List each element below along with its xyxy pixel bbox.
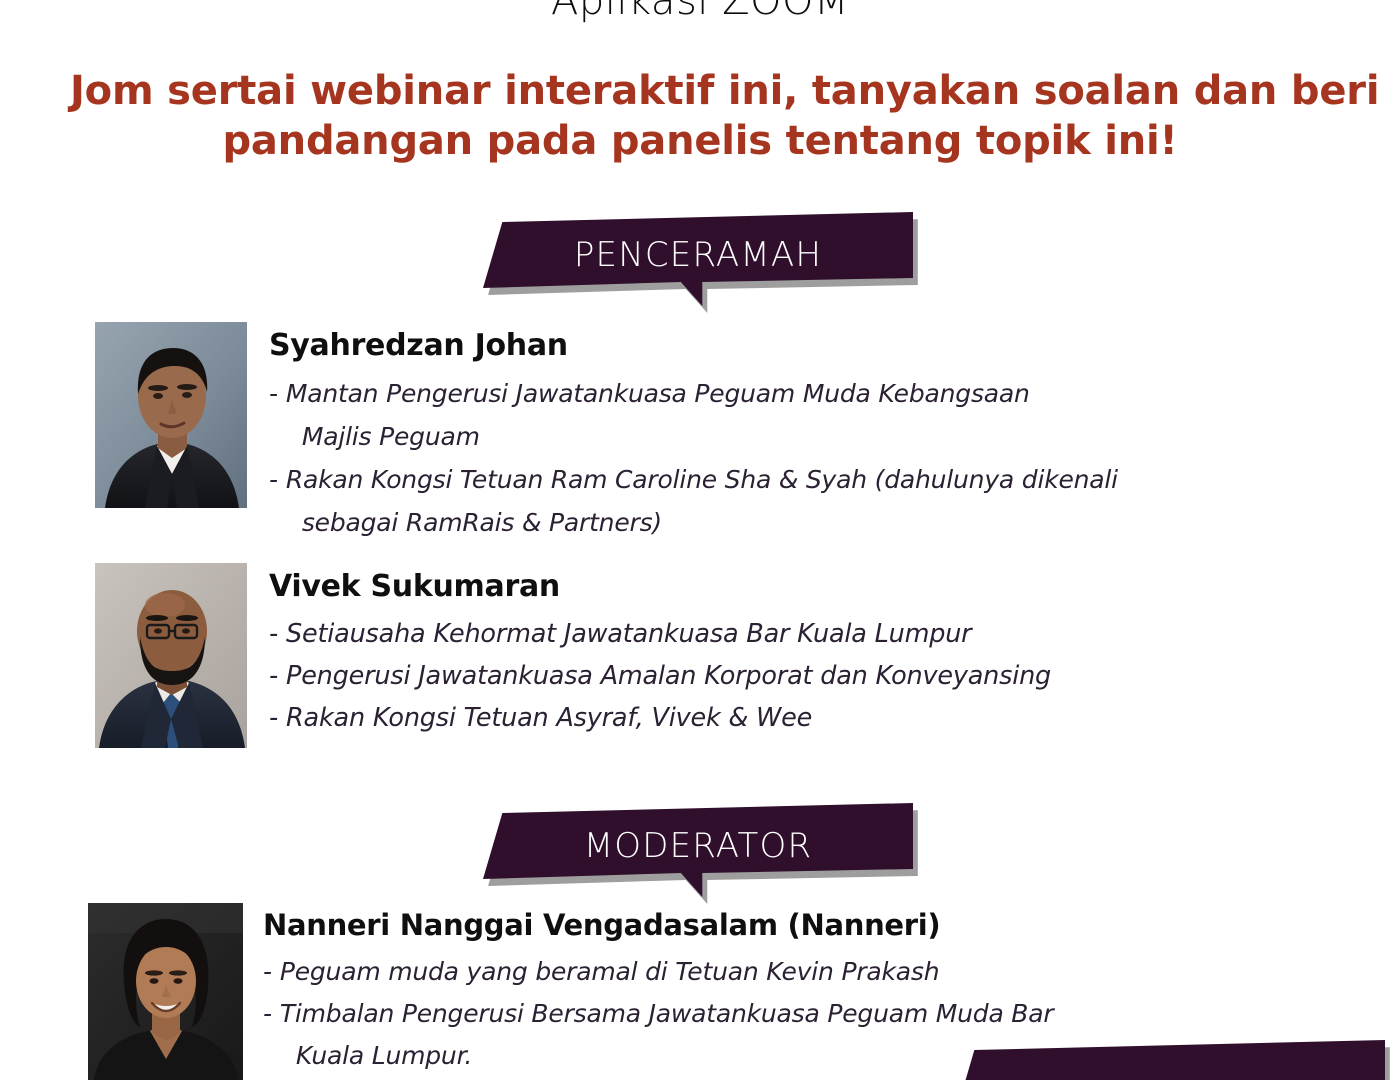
bullet-item: - Peguam muda yang beramal di Tetuan Kev… <box>263 951 1053 993</box>
avatar <box>88 903 243 1080</box>
section-banner-moderator: MODERATOR <box>483 803 913 903</box>
bullet-dash: - <box>269 697 278 739</box>
bullet-dash: - <box>269 613 278 655</box>
moderator-details: Nanneri Nanggai Vengadasalam (Nanneri) -… <box>263 903 1053 1077</box>
speaker-name: Vivek Sukumaran <box>269 569 1051 605</box>
bullet-item: - Setiausaha Kehormat Jawatankuasa Bar K… <box>269 613 1051 655</box>
bullet-dash: - <box>269 458 278 544</box>
bullet-item: - Pengerusi Jawatankuasa Amalan Korporat… <box>269 655 1051 697</box>
bullet-dash: - <box>263 951 272 993</box>
moderator-name: Nanneri Nanggai Vengadasalam (Nanneri) <box>263 907 1053 943</box>
portrait-nanneri-nanggai-vengadasalam-icon <box>88 903 243 1080</box>
bullet-line-2: Majlis Peguam <box>302 415 1118 458</box>
bullet-line-2: Kuala Lumpur. <box>296 1035 1054 1077</box>
bullet-line-1: Rakan Kongsi Tetuan Ram Caroline Sha & S… <box>286 465 1118 494</box>
avatar <box>95 322 247 508</box>
portrait-syahredzan-johan-icon <box>95 322 247 508</box>
page-title: Aplikasi ZOOM <box>0 0 1400 24</box>
headline-line-1: Jom sertai webinar interaktif ini, tanya… <box>70 66 1330 116</box>
headline: Jom sertai webinar interaktif ini, tanya… <box>70 66 1330 166</box>
bullet-text: Pengerusi Jawatankuasa Amalan Korporat d… <box>286 655 1051 697</box>
bullet-dash: - <box>263 993 272 1077</box>
bullet-line-2: sebagai RamRais & Partners) <box>302 501 1118 544</box>
bullet-line-1: Timbalan Pengerusi Bersama Jawatankuasa … <box>280 999 1054 1028</box>
headline-line-2: pandangan pada panelis tentang topik ini… <box>70 116 1330 166</box>
bullet-text: Rakan Kongsi Tetuan Asyraf, Vivek & Wee <box>286 697 1051 739</box>
bullet-item: - Rakan Kongsi Tetuan Asyraf, Vivek & We… <box>269 697 1051 739</box>
speaker-entry: Vivek Sukumaran - Setiausaha Kehormat Ja… <box>95 563 1051 748</box>
moderator-bullets: - Peguam muda yang beramal di Tetuan Kev… <box>263 951 1053 1077</box>
speaker-details: Vivek Sukumaran - Setiausaha Kehormat Ja… <box>269 563 1051 739</box>
speaker-bullets: - Mantan Pengerusi Jawatankuasa Peguam M… <box>269 372 1118 544</box>
banner-body <box>955 1040 1385 1080</box>
bullet-text: Setiausaha Kehormat Jawatankuasa Bar Kua… <box>286 613 1051 655</box>
portrait-vivek-sukumaran-icon <box>95 563 247 748</box>
section-banner-partial-bottom <box>955 1040 1385 1080</box>
bullet-line-1: Mantan Pengerusi Jawatankuasa Peguam Mud… <box>286 379 1030 408</box>
speaker-bullets: - Setiausaha Kehormat Jawatankuasa Bar K… <box>269 613 1051 739</box>
speaker-details: Syahredzan Johan - Mantan Pengerusi Jawa… <box>269 322 1118 544</box>
poster-canvas: Aplikasi ZOOM Jom sertai webinar interak… <box>0 0 1400 1080</box>
moderator-entry: Nanneri Nanggai Vengadasalam (Nanneri) -… <box>88 903 1053 1080</box>
banner-label-moderator: MODERATOR <box>483 803 913 903</box>
speaker-name: Syahredzan Johan <box>269 328 1118 364</box>
bullet-item: - Mantan Pengerusi Jawatankuasa Peguam M… <box>269 372 1118 458</box>
bullet-text: Peguam muda yang beramal di Tetuan Kevin… <box>280 951 1054 993</box>
avatar <box>95 563 247 748</box>
bullet-dash: - <box>269 372 278 458</box>
speaker-entry: Syahredzan Johan - Mantan Pengerusi Jawa… <box>95 322 1118 544</box>
section-banner-penceramah: PENCERAMAH <box>483 212 913 312</box>
bullet-item: - Timbalan Pengerusi Bersama Jawatankuas… <box>263 993 1053 1077</box>
bullet-item: - Rakan Kongsi Tetuan Ram Caroline Sha &… <box>269 458 1118 544</box>
bullet-dash: - <box>269 655 278 697</box>
banner-label-penceramah: PENCERAMAH <box>483 212 913 312</box>
bullet-text: Mantan Pengerusi Jawatankuasa Peguam Mud… <box>286 372 1118 458</box>
bullet-text: Timbalan Pengerusi Bersama Jawatankuasa … <box>280 993 1054 1077</box>
bullet-text: Rakan Kongsi Tetuan Ram Caroline Sha & S… <box>286 458 1118 544</box>
